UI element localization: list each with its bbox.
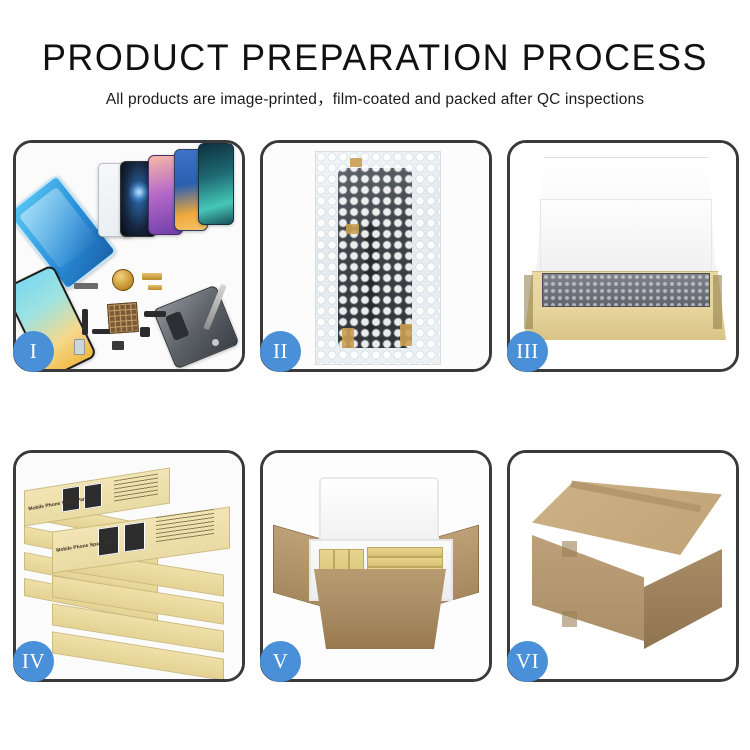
flex-cable-part [144, 311, 166, 317]
panel-step-4[interactable]: Mobile Phone Spare Parts Mobile Phone Sp… [13, 450, 245, 682]
carton-flap-seam [562, 611, 577, 627]
step-badge-5: V [260, 641, 301, 682]
tape-piece [350, 158, 362, 167]
page-title: PRODUCT PREPARATION PROCESS [11, 36, 739, 80]
flex-cable-part [92, 329, 110, 334]
step-badge-4: IV [13, 641, 54, 682]
panel-step-6[interactable]: VI [507, 450, 739, 682]
speaker-component [112, 269, 134, 291]
gold-connector-part [142, 273, 162, 280]
camera-module-part [140, 327, 150, 337]
box-print-screen [124, 522, 145, 553]
panel-2-image [263, 143, 489, 369]
step-badge-3: III [507, 331, 548, 372]
small-part [74, 283, 98, 289]
yellow-box-row [367, 557, 443, 567]
step-badge-6: VI [507, 641, 548, 682]
bubble-wrap-bag [315, 151, 441, 365]
gold-connector-part [148, 285, 162, 290]
tape-piece [346, 224, 359, 234]
foam-lid [319, 477, 439, 547]
bubble-packed-contents [542, 273, 710, 307]
tape-piece [400, 324, 412, 346]
bubble-texture [316, 152, 440, 364]
yellow-box-row [367, 547, 443, 557]
panel-5-image [263, 453, 489, 679]
panel-3-image [510, 143, 736, 369]
screw-part [212, 339, 219, 346]
panel-6-image [510, 453, 736, 679]
panel-step-5[interactable]: V [260, 450, 492, 682]
foam-sheet [540, 199, 712, 283]
page-subtitle: All products are image-printed，film-coat… [0, 87, 750, 109]
step-badge-2: II [260, 331, 301, 372]
teal-phone [198, 143, 234, 225]
screw-mat-component [107, 302, 139, 334]
box-flap-left [524, 275, 533, 329]
page-header: PRODUCT PREPARATION PROCESS All products… [0, 0, 750, 109]
process-grid: I II [13, 140, 739, 682]
panel-1-image [16, 143, 242, 369]
panel-step-1[interactable]: I [13, 140, 245, 372]
sim-tray-part [74, 339, 85, 355]
vibrator-part [112, 341, 124, 350]
panel-step-2[interactable]: II [260, 140, 492, 372]
carton-body [305, 569, 455, 649]
panel-step-3[interactable]: III [507, 140, 739, 372]
box-flap-right [713, 275, 722, 329]
step-badge-1: I [13, 331, 54, 372]
panel-4-image: Mobile Phone Spare Parts Mobile Phone Sp… [16, 453, 242, 679]
carton-flap-seam [562, 541, 577, 557]
flex-cable-part [82, 309, 88, 335]
tape-piece [342, 328, 354, 348]
